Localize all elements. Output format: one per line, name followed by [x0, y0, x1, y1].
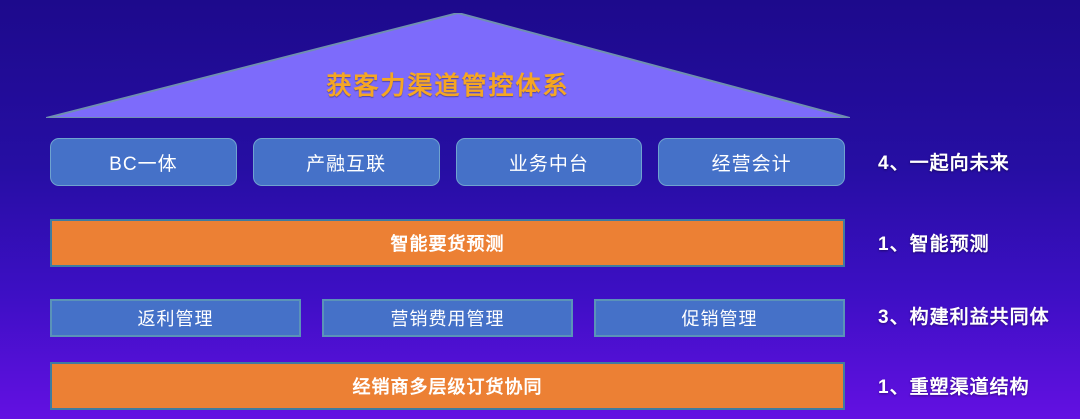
tier1-item-bc-integration[interactable]: BC一体	[50, 138, 237, 186]
tier4-item-dealer-multilevel-ordering[interactable]: 经销商多层级订货协同	[50, 362, 845, 410]
tier-row-3-label: 3、构建利益共同体	[878, 302, 1050, 329]
tier1-item-business-midplatform[interactable]: 业务中台	[456, 138, 643, 186]
tier-row-3: 返利管理 营销费用管理 促销管理	[50, 299, 845, 337]
tier-row-4-label: 1、重塑渠道结构	[878, 372, 1030, 399]
tier1-item-industry-finance[interactable]: 产融互联	[253, 138, 440, 186]
roof-triangle: 获客力渠道管控体系	[46, 13, 850, 118]
tier-row-1-label: 4、一起向未来	[878, 148, 1010, 175]
tier-row-1: BC一体 产融互联 业务中台 经营会计	[50, 138, 845, 186]
tier-row-2: 智能要货预测	[50, 219, 845, 267]
tier1-item-management-accounting[interactable]: 经营会计	[658, 138, 845, 186]
tier-row-4: 经销商多层级订货协同	[50, 362, 845, 410]
tier3-item-promotion-management[interactable]: 促销管理	[594, 299, 845, 337]
pyramid-architecture-slide: 获客力渠道管控体系 BC一体 产融互联 业务中台 经营会计 4、一起向未来 智能…	[0, 0, 1080, 419]
tier2-item-smart-demand-forecast[interactable]: 智能要货预测	[50, 219, 845, 267]
tier3-item-marketing-expense-management[interactable]: 营销费用管理	[322, 299, 573, 337]
tier-row-2-label: 1、智能预测	[878, 229, 990, 256]
tier3-item-rebate-management[interactable]: 返利管理	[50, 299, 301, 337]
page-title: 获客力渠道管控体系	[46, 66, 850, 102]
